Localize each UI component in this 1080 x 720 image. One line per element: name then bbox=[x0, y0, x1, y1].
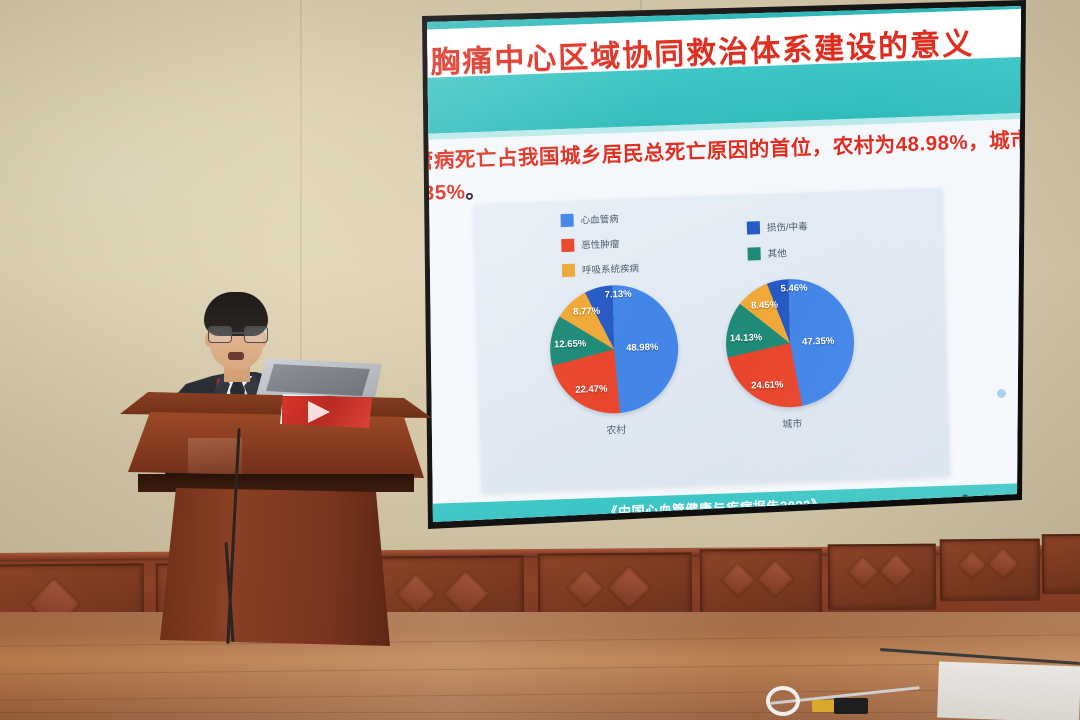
legend-swatch-cardiovascular bbox=[560, 213, 573, 226]
body-line-1: 心血管病死亡占我国城乡居民总死亡原因的首位， bbox=[408, 136, 833, 175]
body-period: 。 bbox=[465, 180, 487, 204]
chart-panel: 心血管病 恶性肿瘤 呼吸系统疾病 损伤/中毒 其他 bbox=[474, 188, 950, 492]
pie-rural-value-0: 48.98% bbox=[626, 342, 659, 354]
legend-item-0: 心血管病 bbox=[560, 211, 618, 227]
pie-urban-value-1: 24.61% bbox=[751, 379, 784, 391]
presentation-screen[interactable]: 临清市人民医院 THE PEOPLE'S HOSPITAL OF LINQING… bbox=[408, 0, 1028, 530]
screen-surface[interactable]: 临清市人民医院 THE PEOPLE'S HOSPITAL OF LINQING… bbox=[408, 0, 1028, 530]
legend-swatch-injury bbox=[747, 221, 760, 234]
pie-chart-urban: 47.35% 24.61% 14.13% 8.45% 5.46% 城市 bbox=[724, 276, 877, 409]
chart-legend: 心血管病 恶性肿瘤 呼吸系统疾病 损伤/中毒 其他 bbox=[560, 202, 892, 283]
legend-label-2: 呼吸系统疾病 bbox=[582, 260, 639, 276]
pie-rural-value-3: 8.77% bbox=[573, 306, 600, 318]
legend-item-4: 其他 bbox=[747, 245, 786, 260]
screenshot-stage: 临清市人民医院 THE PEOPLE'S HOSPITAL OF LINQING… bbox=[0, 0, 1080, 720]
legend-swatch-other bbox=[747, 247, 760, 260]
floor-white-panel bbox=[937, 662, 1080, 720]
pie-urban-value-2: 14.13% bbox=[730, 332, 763, 344]
pie-rural-value-4: 7.13% bbox=[605, 289, 632, 301]
pie-urban-label: 城市 bbox=[728, 413, 856, 432]
legend-item-3: 损伤/中毒 bbox=[747, 219, 808, 235]
cable-coil bbox=[766, 686, 800, 716]
pie-rural-value-1: 22.47% bbox=[575, 384, 608, 396]
pie-urban-value-3: 8.45% bbox=[751, 300, 778, 312]
laptop-screen bbox=[266, 364, 370, 396]
mouth bbox=[228, 352, 244, 360]
pie-rural-label: 农村 bbox=[552, 419, 680, 438]
pie-chart-rural: 48.98% 22.47% 12.65% 8.77% 7.13% 农村 bbox=[548, 282, 701, 415]
floor-black-box bbox=[834, 698, 868, 714]
legend-label-0: 心血管病 bbox=[580, 211, 618, 226]
eyeglasses-icon bbox=[208, 326, 266, 341]
slide-content: 临清市人民医院 THE PEOPLE'S HOSPITAL OF LINQING… bbox=[408, 0, 1028, 530]
legend-label-4: 其他 bbox=[767, 245, 786, 260]
pie-chart-group: 48.98% 22.47% 12.65% 8.77% 7.13% 农村 47.3… bbox=[477, 274, 949, 450]
legend-item-2: 呼吸系统疾病 bbox=[562, 260, 639, 277]
wooden-podium bbox=[120, 392, 432, 642]
pie-urban-value-0: 47.35% bbox=[802, 336, 835, 348]
podium-front bbox=[128, 412, 424, 478]
screen-status-dot bbox=[997, 389, 1006, 398]
pie-rural-value-2: 12.65% bbox=[554, 338, 587, 350]
legend-swatch-cancer bbox=[561, 238, 574, 251]
body-pct: 47.35% bbox=[408, 180, 466, 206]
legend-item-1: 恶性肿瘤 bbox=[561, 236, 619, 252]
hospital-name: 临清市人民医院 bbox=[408, 0, 550, 9]
legend-label-1: 恶性肿瘤 bbox=[581, 236, 619, 251]
legend-label-3: 损伤/中毒 bbox=[767, 219, 808, 234]
pie-urban-value-4: 5.46% bbox=[780, 283, 807, 295]
podium-column bbox=[160, 488, 390, 646]
legend-swatch-respiratory bbox=[562, 263, 575, 276]
